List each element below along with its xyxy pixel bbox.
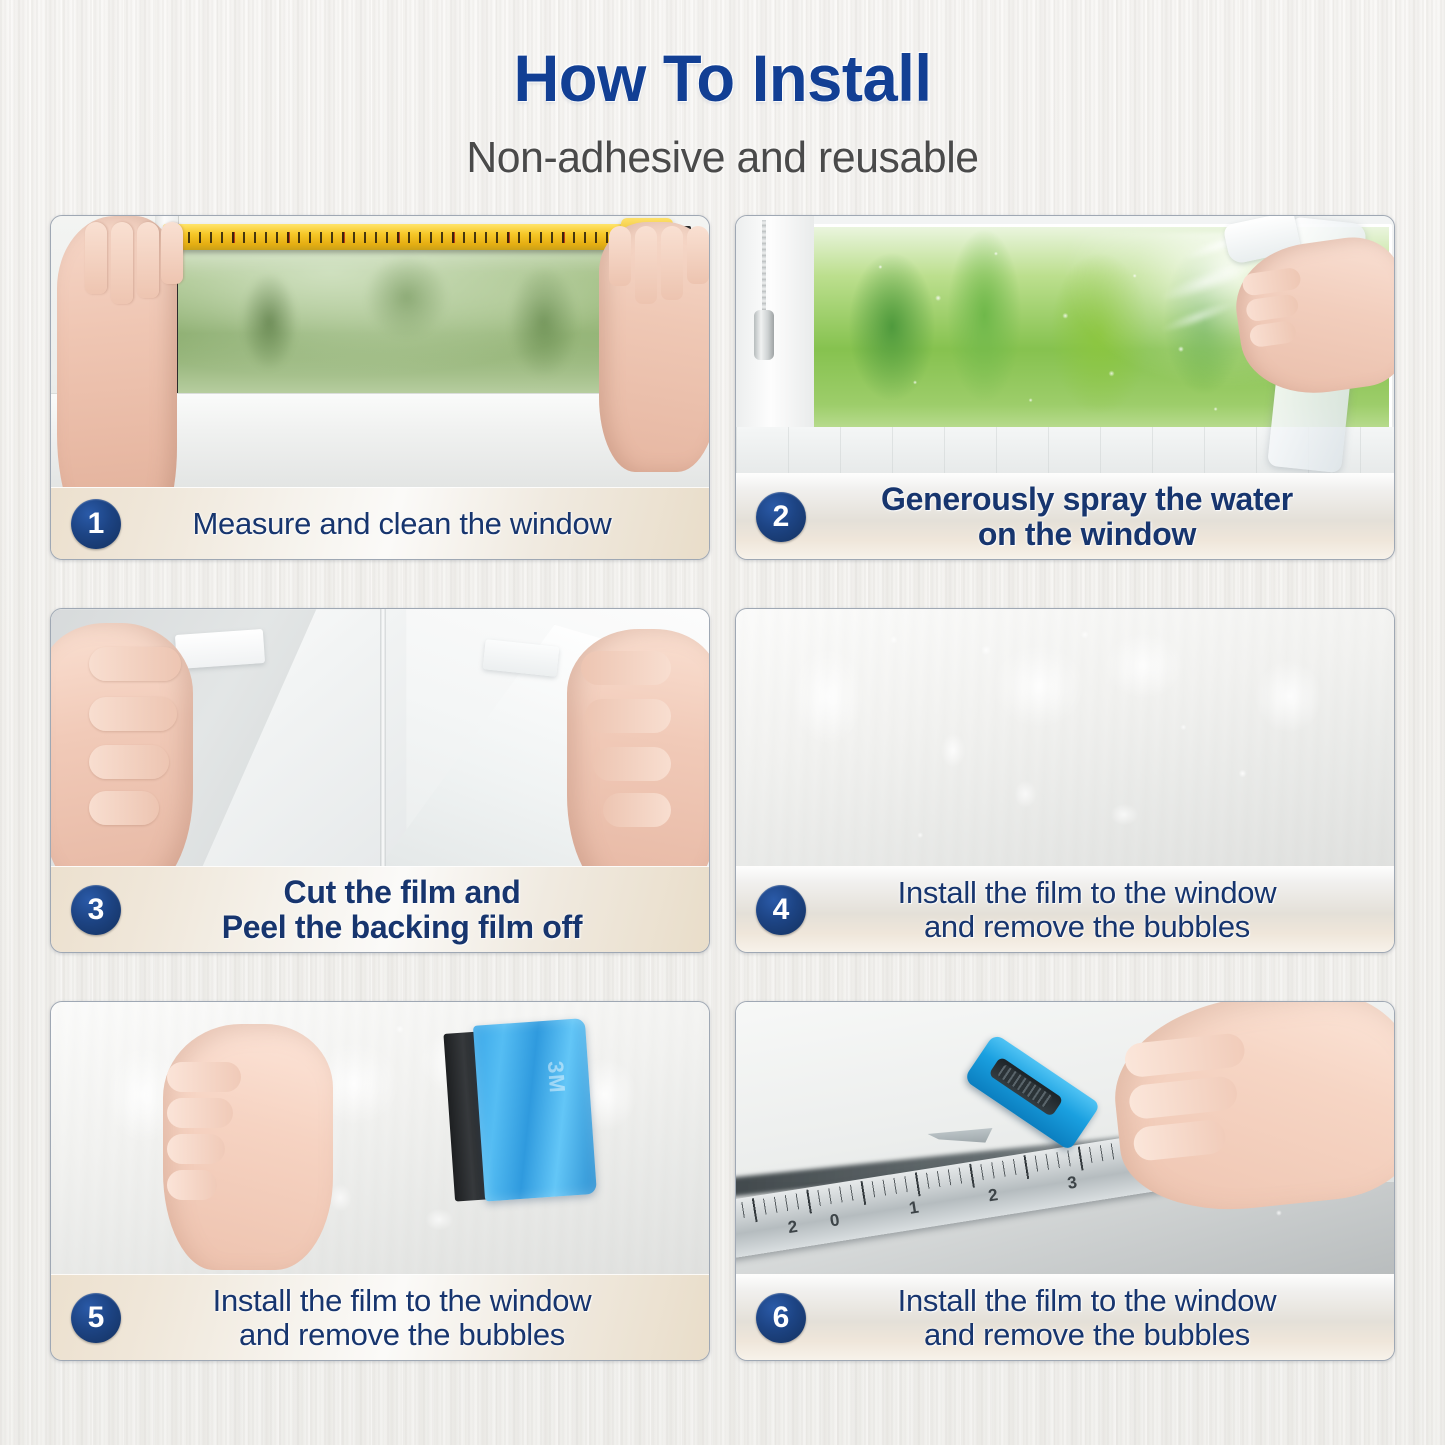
step-caption-text-4: Install the film to the window and remov… bbox=[806, 876, 1394, 943]
step-panel-5: 5 Install the film to the window and rem… bbox=[50, 1001, 710, 1361]
step-photo-2 bbox=[736, 216, 1394, 473]
step-caption-text-1: Measure and clean the window bbox=[121, 507, 709, 540]
page-subtitle: Non-adhesive and reusable bbox=[22, 133, 1424, 183]
step-badge-5: 5 bbox=[71, 1293, 121, 1343]
squeegee-blue-body bbox=[473, 1018, 597, 1201]
right-hand bbox=[599, 222, 709, 472]
step-panel-4: 4 Install the film to the window and rem… bbox=[735, 608, 1395, 953]
hand-holding-squeegee bbox=[163, 1024, 333, 1270]
step-photo-4 bbox=[736, 609, 1394, 866]
wet-frosted-film-surface bbox=[51, 1002, 709, 1274]
step-photo-3 bbox=[51, 609, 709, 866]
infographic-page: How To Install Non-adhesive and reusable… bbox=[0, 0, 1445, 1445]
hand-holding-knife bbox=[1106, 1002, 1394, 1221]
step-caption-3: 3 Cut the film and Peel the backing film… bbox=[51, 866, 709, 952]
step-caption-2: 2 Generously spray the water on the wind… bbox=[736, 473, 1394, 559]
blind-chain bbox=[762, 220, 766, 312]
step-badge-6: 6 bbox=[756, 1293, 806, 1343]
steps-grid: 1 Measure and clean the window 2 bbox=[50, 215, 1395, 1361]
window-frame-left bbox=[736, 216, 814, 433]
step-badge-2: 2 bbox=[756, 492, 806, 542]
step-caption-4: 4 Install the film to the window and rem… bbox=[736, 866, 1394, 952]
step-photo-5 bbox=[51, 1002, 709, 1274]
page-title: How To Install bbox=[29, 44, 1416, 113]
step-caption-text-5: Install the film to the window and remov… bbox=[121, 1284, 709, 1351]
left-hand bbox=[51, 623, 193, 866]
header: How To Install Non-adhesive and reusable bbox=[0, 0, 1445, 183]
step-caption-5: 5 Install the film to the window and rem… bbox=[51, 1274, 709, 1360]
film-seam bbox=[380, 609, 386, 866]
step-caption-text-3: Cut the film and Peel the backing film o… bbox=[121, 875, 709, 944]
step-panel-6: 9 20 1 2 3 4 5 6 7 8 9 30 1 2 3 4 5 6 7 … bbox=[735, 1001, 1395, 1361]
blind-chain-weight bbox=[754, 310, 774, 360]
step-caption-text-6: Install the film to the window and remov… bbox=[806, 1284, 1394, 1351]
step-caption-text-2: Generously spray the water on the window bbox=[806, 482, 1394, 551]
tape-measure-blade bbox=[163, 224, 647, 250]
step-badge-3: 3 bbox=[71, 885, 121, 935]
step-caption-6: 6 Install the film to the window and rem… bbox=[736, 1274, 1394, 1360]
left-hand bbox=[57, 216, 177, 487]
step-badge-1: 1 bbox=[71, 499, 121, 549]
step-panel-2: 2 Generously spray the water on the wind… bbox=[735, 215, 1395, 560]
right-hand bbox=[567, 629, 709, 866]
step-photo-6: 9 20 1 2 3 4 5 6 7 8 9 30 1 2 3 4 5 6 7 … bbox=[736, 1002, 1394, 1274]
step-panel-3: 3 Cut the film and Peel the backing film… bbox=[50, 608, 710, 953]
step-badge-4: 4 bbox=[756, 885, 806, 935]
step-caption-1: 1 Measure and clean the window bbox=[51, 487, 709, 559]
wet-frosted-film-surface bbox=[736, 609, 1394, 866]
step-panel-1: 1 Measure and clean the window bbox=[50, 215, 710, 560]
step-photo-1 bbox=[51, 216, 709, 487]
film-tab-left bbox=[175, 629, 265, 669]
